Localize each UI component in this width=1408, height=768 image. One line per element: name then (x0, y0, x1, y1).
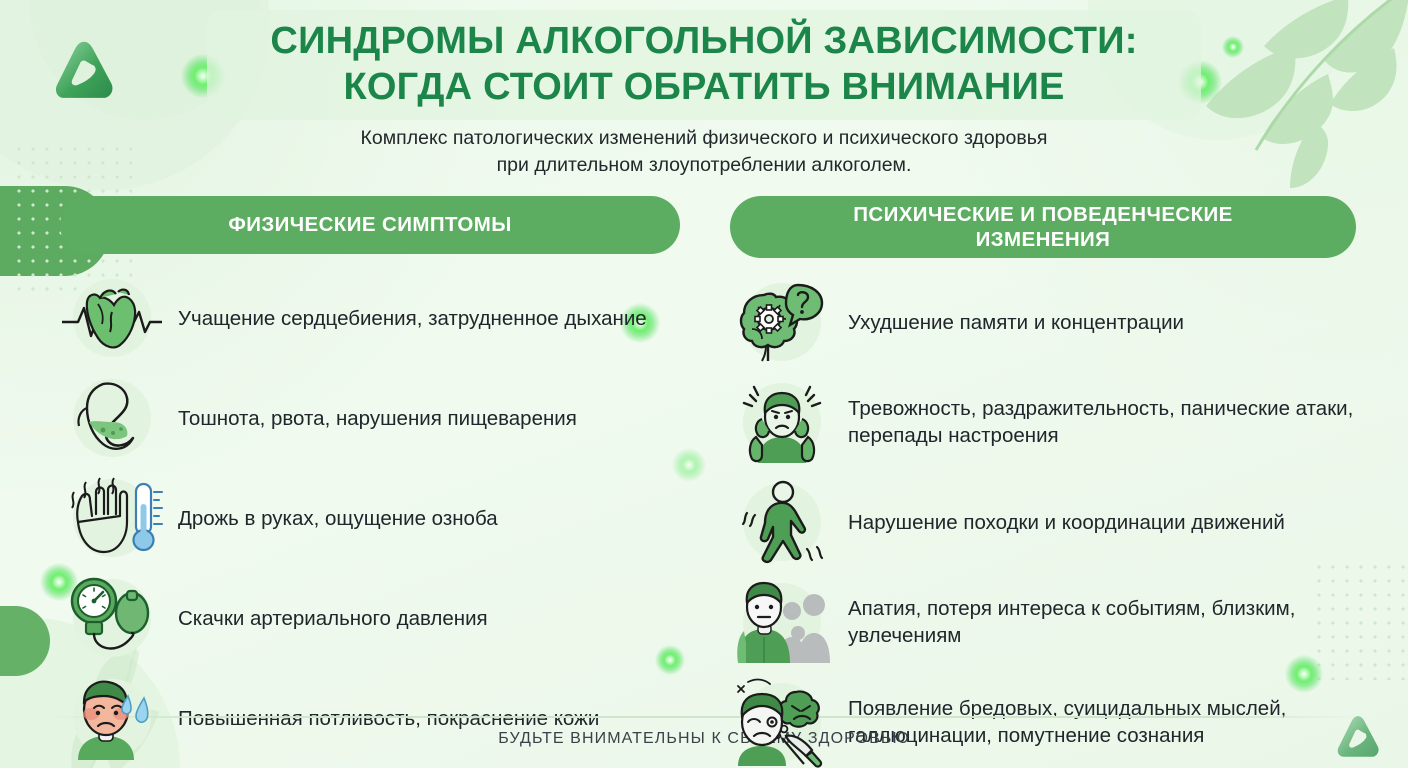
infographic-canvas: СИНДРОМЫ АЛКОГОЛЬНОЙ ЗАВИСИМОСТИ: КОГДА … (0, 0, 1408, 768)
physical-symptoms-heading: ФИЗИЧЕСКИЕ СИМПТОМЫ (60, 196, 680, 254)
footer-divider (46, 716, 1362, 718)
trembling-hand-thermometer-icon (60, 468, 164, 568)
anxious-person-icon (730, 372, 834, 472)
unsteady-walking-person-icon (730, 472, 834, 572)
list-item-label: Тревожность, раздражительность, паническ… (848, 395, 1356, 449)
stomach-icon (60, 368, 164, 468)
list-item-label: Ухудшение памяти и концентрации (848, 309, 1184, 336)
list-item-label: Учащение сердцебиения, затрудненное дыха… (178, 305, 647, 332)
list-item-label: Нарушение походки и координации движений (848, 509, 1285, 536)
mental-symptoms-column: ПСИХИЧЕСКИЕ И ПОВЕДЕНЧЕСКИЕ ИЗМЕНЕНИЯ (730, 196, 1356, 768)
list-item-label: Тошнота, рвота, нарушения пищеварения (178, 405, 577, 432)
mental-symptoms-list: Ухудшение памяти и концентрации (730, 272, 1356, 768)
brain-gear-question-icon (730, 272, 834, 372)
physical-symptoms-column: ФИЗИЧЕСКИЕ СИМПТОМЫ Учащение сердцеб (60, 196, 680, 768)
list-item-label: Дрожь в руках, ощущение озноба (178, 505, 498, 532)
list-item-label: Апатия, потеря интереса к событиям, близ… (848, 595, 1356, 649)
apathy-family-icon (730, 572, 834, 672)
list-item: Повышенная потливость, покраснение кожи (60, 668, 680, 768)
delusion-hallucination-icon (730, 672, 834, 768)
list-item: Ухудшение памяти и концентрации (730, 272, 1356, 372)
page-subtitle-line-2: при длительном злоупотреблении алкоголем… (204, 152, 1204, 179)
mental-symptoms-heading: ПСИХИЧЕСКИЕ И ПОВЕДЕНЧЕСКИЕ ИЗМЕНЕНИЯ (730, 196, 1356, 258)
list-item-label: Повышенная потливость, покраснение кожи (178, 705, 599, 732)
sweating-face-icon (60, 668, 164, 768)
page-title: СИНДРОМЫ АЛКОГОЛЬНОЙ ЗАВИСИМОСТИ: КОГДА … (207, 18, 1201, 110)
page-subtitle: Комплекс патологических изменений физиче… (204, 125, 1204, 179)
leaf-branch-icon (1198, 0, 1408, 192)
triangle-logo (1332, 712, 1384, 764)
footer-text: БУДЬТЕ ВНИМАТЕЛЬНЫ К СВОЕМУ ЗДОРОВЬЮ (0, 730, 1408, 748)
list-item: Апатия, потеря интереса к событиям, близ… (730, 572, 1356, 672)
physical-symptoms-list: Учащение сердцебиения, затрудненное дыха… (60, 268, 680, 768)
mental-symptoms-heading-line-1: ПСИХИЧЕСКИЕ И ПОВЕДЕНЧЕСКИЕ (853, 202, 1232, 227)
triangle-logo (48, 36, 120, 108)
list-item: Учащение сердцебиения, затрудненное дыха… (60, 268, 680, 368)
list-item: Тошнота, рвота, нарушения пищеварения (60, 368, 680, 468)
heart-ecg-icon (60, 268, 164, 368)
page-title-line-2: КОГДА СТОИТ ОБРАТИТЬ ВНИМАНИЕ (207, 64, 1201, 110)
list-item: Появление бредовых, суицидальных мыслей,… (730, 672, 1356, 768)
page-title-line-1: СИНДРОМЫ АЛКОГОЛЬНОЙ ЗАВИСИМОСТИ: (207, 18, 1201, 64)
list-item-label: Скачки артериального давления (178, 605, 488, 632)
list-item: Дрожь в руках, ощущение озноба (60, 468, 680, 568)
list-item: Скачки артериального давления (60, 568, 680, 668)
page-subtitle-line-1: Комплекс патологических изменений физиче… (204, 125, 1204, 152)
glow-dot (1222, 36, 1244, 58)
mental-symptoms-heading-line-2: ИЗМЕНЕНИЯ (853, 227, 1232, 252)
list-item: Нарушение походки и координации движений (730, 472, 1356, 572)
list-item: Тревожность, раздражительность, паническ… (730, 372, 1356, 472)
blood-pressure-monitor-icon (60, 568, 164, 668)
decorative-green-pill (0, 606, 50, 676)
